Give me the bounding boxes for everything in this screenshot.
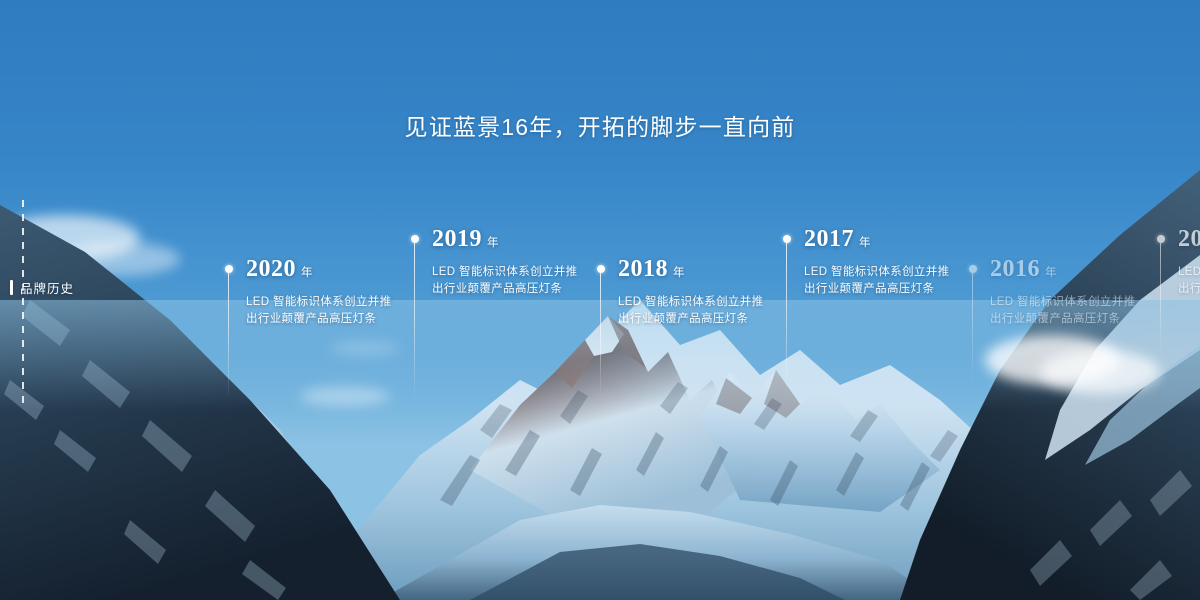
timeline-year: 2020 — [246, 256, 296, 283]
timeline-description-line2: 出行业颠覆产品高压灯条 — [1178, 281, 1200, 298]
timeline-year: 2019 — [432, 226, 482, 253]
timeline-description-line1: LED 智能标识体系创立并推 — [432, 264, 577, 281]
timeline-year-suffix: 年 — [673, 264, 685, 280]
timeline-description: LED 智能标识体系创立并推 出行业颠覆产品高压灯条 — [246, 294, 391, 328]
timeline-stem — [228, 268, 229, 400]
section-label-text: 品牌历史 — [20, 278, 74, 297]
timeline-year: 2018 — [618, 256, 668, 283]
timeline-stem — [786, 238, 787, 400]
timeline-content: 2016年 LED 智能标识体系创立并推 出行业颠覆产品高压灯条 — [990, 256, 1135, 328]
timeline-stem — [1160, 238, 1161, 358]
timeline-description-line1: LED 智能标识体系创立并推 — [990, 294, 1135, 311]
timeline-description-line2: 出行业颠覆产品高压灯条 — [432, 281, 577, 298]
timeline-year-suffix: 年 — [487, 234, 499, 250]
timeline-description: LED 智能标识体系创立并推 出行业颠覆产品高压灯条 — [804, 264, 949, 298]
timeline-year-suffix: 年 — [1045, 264, 1057, 280]
timeline-content: 2015年 LED 智能标识体系创立并推 出行业颠覆产品高压灯条 — [1178, 226, 1200, 298]
timeline-stem — [414, 238, 415, 403]
timeline-description-line1: LED 智能标识体系创立并推 — [804, 264, 949, 281]
timeline-year-row: 2015年 — [1178, 226, 1200, 253]
timeline-year-row: 2019年 — [432, 226, 577, 253]
timeline-year: 2016 — [990, 256, 1040, 283]
timeline-description-line1: LED 智能标识体系创立并推 — [246, 294, 391, 311]
section-accent-bar — [10, 280, 13, 295]
timeline-content: 2018年 LED 智能标识体系创立并推 出行业颠覆产品高压灯条 — [618, 256, 763, 328]
timeline-year-row: 2016年 — [990, 256, 1135, 283]
timeline-description-line1: LED 智能标识体系创立并推 — [618, 294, 763, 311]
timeline-year-row: 2018年 — [618, 256, 763, 283]
timeline-year: 2017 — [804, 226, 854, 253]
timeline-content: 2017年 LED 智能标识体系创立并推 出行业颠覆产品高压灯条 — [804, 226, 949, 298]
timeline-description-line1: LED 智能标识体系创立并推 — [1178, 264, 1200, 281]
timeline-description: LED 智能标识体系创立并推 出行业颠覆产品高压灯条 — [618, 294, 763, 328]
timeline-stem — [972, 268, 973, 386]
timeline-stem — [600, 268, 601, 398]
timeline-year-row: 2017年 — [804, 226, 949, 253]
timeline-year-suffix: 年 — [301, 264, 313, 280]
timeline-description-line2: 出行业颠覆产品高压灯条 — [246, 311, 391, 328]
page-title: 见证蓝景16年，开拓的脚步一直向前 — [0, 108, 1200, 142]
timeline-year-row: 2020年 — [246, 256, 391, 283]
section-rail-line — [22, 200, 24, 410]
timeline-year: 2015 — [1178, 226, 1200, 253]
timeline-description-line2: 出行业颠覆产品高压灯条 — [990, 311, 1135, 328]
timeline-year-suffix: 年 — [859, 234, 871, 250]
timeline-description: LED 智能标识体系创立并推 出行业颠覆产品高压灯条 — [1178, 264, 1200, 298]
timeline-description: LED 智能标识体系创立并推 出行业颠覆产品高压灯条 — [432, 264, 577, 298]
timeline-content: 2020年 LED 智能标识体系创立并推 出行业颠覆产品高压灯条 — [246, 256, 391, 328]
section-label: 品牌历史 — [10, 278, 74, 297]
brand-history-timeline: 2020年 LED 智能标识体系创立并推 出行业颠覆产品高压灯条 2019年 L… — [0, 0, 1200, 600]
timeline-description: LED 智能标识体系创立并推 出行业颠覆产品高压灯条 — [990, 294, 1135, 328]
timeline-description-line2: 出行业颠覆产品高压灯条 — [804, 281, 949, 298]
timeline-content: 2019年 LED 智能标识体系创立并推 出行业颠覆产品高压灯条 — [432, 226, 577, 298]
timeline-description-line2: 出行业颠覆产品高压灯条 — [618, 311, 763, 328]
